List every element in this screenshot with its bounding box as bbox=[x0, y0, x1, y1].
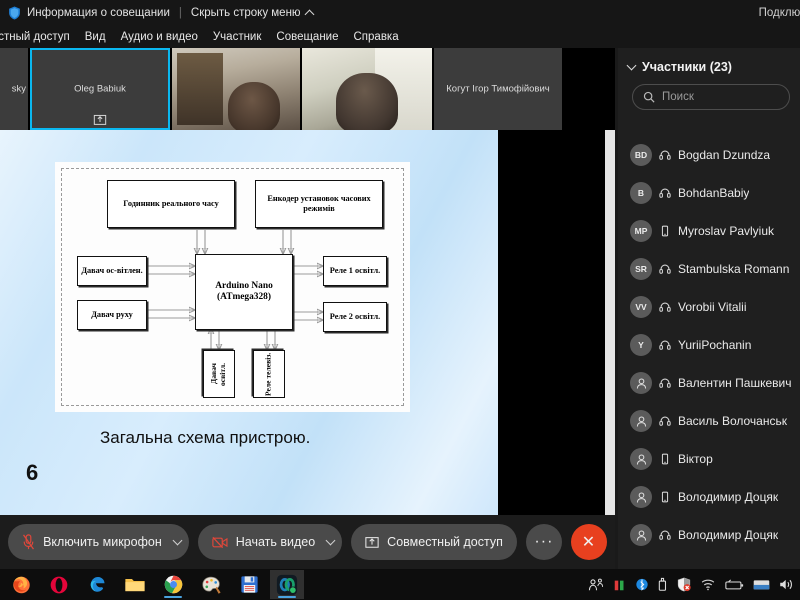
search-placeholder: Поиск bbox=[662, 91, 694, 103]
share-content-button[interactable]: Совместный доступ bbox=[351, 524, 517, 560]
more-options-label: ··· bbox=[534, 533, 553, 551]
people-icon[interactable] bbox=[588, 578, 604, 592]
equalizer-icon[interactable] bbox=[613, 578, 627, 592]
hide-menubar-button[interactable]: Скрыть строку меню bbox=[191, 7, 313, 19]
menu-item-help[interactable]: Справка bbox=[354, 31, 399, 43]
running-indicator bbox=[164, 596, 182, 598]
menu-bar: вместный доступ Вид Аудио и видео Участн… bbox=[0, 26, 800, 48]
menu-item-share[interactable]: вместный доступ bbox=[0, 31, 70, 43]
more-options-button[interactable]: ··· bbox=[526, 524, 562, 560]
avatar bbox=[630, 410, 652, 432]
taskbar-item-opera[interactable] bbox=[42, 570, 76, 599]
stage-scrollbar[interactable] bbox=[605, 130, 615, 515]
taskbar-item-save[interactable] bbox=[232, 570, 266, 599]
list-item[interactable]: MP Myroslav Pavlyiuk bbox=[618, 212, 800, 250]
taskbar-app-icons bbox=[4, 569, 304, 600]
leave-meeting-label: ✕ bbox=[582, 532, 596, 552]
bluetooth-icon[interactable] bbox=[636, 577, 648, 592]
list-item[interactable]: Володимир Доцяк bbox=[618, 516, 800, 554]
opera-icon bbox=[49, 575, 69, 595]
volume-icon[interactable] bbox=[779, 578, 794, 591]
participants-panel: Участники (23) Поиск BD Bogdan Dzundza B bbox=[618, 48, 800, 569]
avatar: VV bbox=[630, 296, 652, 318]
hide-menubar-label: Скрыть строку меню bbox=[191, 7, 301, 19]
share-content-label: Совместный доступ bbox=[387, 535, 503, 549]
chevron-down-icon[interactable] bbox=[627, 60, 637, 70]
usb-icon[interactable] bbox=[657, 577, 668, 592]
participant-name: Bogdan Dzundza bbox=[678, 148, 770, 162]
video-tile-name: Когут Ігор Тимофійович bbox=[434, 84, 562, 95]
participant-name: Stambulska Romann bbox=[678, 262, 789, 276]
phone-icon bbox=[659, 491, 671, 503]
avatar: BD bbox=[630, 144, 652, 166]
video-tile-name: sky bbox=[0, 84, 28, 95]
participant-name: Віктор bbox=[678, 452, 713, 466]
box-real-time-clock: Годинник реального часу bbox=[107, 180, 235, 228]
video-tile-name: Oleg Babiuk bbox=[30, 84, 170, 95]
windows-taskbar bbox=[0, 569, 800, 600]
headset-icon bbox=[659, 301, 671, 313]
webex-icon bbox=[276, 574, 298, 596]
video-tile[interactable] bbox=[302, 48, 432, 130]
headset-icon bbox=[659, 529, 671, 541]
shared-content-stage: Годинник реального часу Енкодер установо… bbox=[0, 130, 615, 515]
chrome-icon bbox=[163, 574, 184, 595]
menu-item-participant[interactable]: Участник bbox=[213, 31, 262, 43]
avatar: B bbox=[630, 182, 652, 204]
list-item[interactable]: Y YuriiPochanin bbox=[618, 326, 800, 364]
video-tile-oleg-babiuk[interactable]: Oleg Babiuk bbox=[30, 48, 170, 130]
keyboard-icon[interactable] bbox=[753, 579, 770, 591]
windows-defender-icon[interactable] bbox=[677, 577, 691, 592]
video-tile[interactable]: sky bbox=[0, 48, 28, 130]
avatar bbox=[630, 372, 652, 394]
infobar-separator: | bbox=[179, 7, 182, 19]
participant-name: Myroslav Pavlyiuk bbox=[678, 224, 774, 238]
taskbar-item-firefox[interactable] bbox=[4, 570, 38, 599]
taskbar-item-file-explorer[interactable] bbox=[118, 570, 152, 599]
taskbar-item-paint[interactable] bbox=[194, 570, 228, 599]
presentation-slide: Годинник реального часу Енкодер установо… bbox=[0, 130, 498, 515]
video-tile[interactable] bbox=[172, 48, 300, 130]
chevron-up-icon bbox=[304, 9, 314, 19]
person-icon bbox=[635, 529, 648, 542]
headset-icon bbox=[659, 415, 671, 427]
unmute-microphone-button[interactable]: Включить микрофон bbox=[8, 524, 189, 560]
video-tile-kogut[interactable]: Когут Ігор Тимофійович bbox=[434, 48, 562, 130]
floppy-save-icon bbox=[240, 575, 259, 594]
list-item[interactable]: Володимир Доцяк bbox=[618, 478, 800, 516]
phone-icon bbox=[659, 453, 671, 465]
avatar bbox=[630, 486, 652, 508]
participant-name: Василь Волочанськ bbox=[678, 414, 787, 428]
box-motion-sensor: Давач руху bbox=[77, 300, 147, 330]
headset-icon bbox=[659, 263, 671, 275]
list-item[interactable]: VV Vorobii Vitalii bbox=[618, 288, 800, 326]
participant-name: Vorobii Vitalii bbox=[678, 300, 746, 314]
box-encoder: Енкодер установок часових режимів bbox=[255, 180, 383, 228]
menu-item-view[interactable]: Вид bbox=[85, 31, 106, 43]
leave-meeting-button[interactable]: ✕ bbox=[571, 524, 607, 560]
list-item[interactable]: Віктор bbox=[618, 440, 800, 478]
share-screen-icon bbox=[365, 535, 379, 549]
share-screen-icon bbox=[94, 113, 107, 126]
start-video-button[interactable]: Начать видео bbox=[198, 524, 342, 560]
taskbar-item-webex[interactable] bbox=[270, 570, 304, 599]
list-item[interactable]: Василь Волочанськ bbox=[618, 402, 800, 440]
participant-name: Володимир Доцяк bbox=[678, 490, 778, 504]
box-relay-2: Реле 2 освітл. bbox=[323, 302, 387, 332]
block-diagram: Годинник реального часу Енкодер установо… bbox=[55, 162, 410, 412]
box-arduino-nano: Arduino Nano (ATmega328) bbox=[195, 254, 293, 330]
box-bottom-tv-relay: Реле телевіз. bbox=[253, 350, 285, 398]
folder-icon bbox=[124, 575, 146, 594]
menu-item-audio-video[interactable]: Аудио и видео bbox=[121, 31, 198, 43]
list-item[interactable]: Валентин Пашкевич bbox=[618, 364, 800, 402]
participant-name: YuriiPochanin bbox=[678, 338, 751, 352]
menu-item-meeting[interactable]: Совещание bbox=[276, 31, 338, 43]
person-icon bbox=[635, 491, 648, 504]
webex-meeting-window: Информация о совещании | Скрыть строку м… bbox=[0, 0, 800, 600]
firefox-icon bbox=[11, 574, 32, 595]
person-icon bbox=[635, 377, 648, 390]
avatar bbox=[630, 448, 652, 470]
taskbar-item-edge[interactable] bbox=[80, 570, 114, 599]
running-indicator bbox=[278, 596, 296, 598]
slide-caption: Загальна схема пристрою. bbox=[100, 428, 430, 448]
list-item[interactable]: BD Bogdan Dzundza bbox=[618, 136, 800, 174]
avatar bbox=[630, 524, 652, 546]
headset-icon bbox=[659, 339, 671, 351]
avatar: Y bbox=[630, 334, 652, 356]
list-item[interactable]: B BohdanBabiy bbox=[618, 174, 800, 212]
video-filmstrip: sky Oleg Babiuk Когут Ігор Тимофійович bbox=[0, 48, 615, 130]
unmute-microphone-label: Включить микрофон bbox=[43, 535, 162, 549]
participants-header[interactable]: Участники (23) bbox=[618, 48, 800, 84]
box-relay-1: Реле 1 освітл. bbox=[323, 256, 387, 286]
connection-status: Подключ bbox=[759, 0, 800, 26]
participant-name: BohdanBabiy bbox=[678, 186, 749, 200]
wifi-icon[interactable] bbox=[700, 578, 716, 591]
headset-icon bbox=[659, 149, 671, 161]
phone-icon bbox=[659, 225, 671, 237]
taskbar-item-chrome[interactable] bbox=[156, 570, 190, 599]
microphone-options-chevron-icon[interactable] bbox=[172, 535, 182, 545]
camera-muted-icon bbox=[212, 536, 228, 549]
microphone-muted-icon bbox=[22, 534, 35, 550]
headset-icon bbox=[659, 377, 671, 389]
shield-icon bbox=[8, 6, 21, 20]
avatar: SR bbox=[630, 258, 652, 280]
meeting-control-bar: Включить микрофон Начать видео Совместны… bbox=[0, 515, 615, 569]
system-tray bbox=[588, 569, 794, 600]
meeting-info-bar: Информация о совещании | Скрыть строку м… bbox=[0, 0, 800, 26]
person-icon bbox=[635, 453, 648, 466]
search-icon bbox=[643, 91, 655, 103]
avatar: MP bbox=[630, 220, 652, 242]
camera-options-chevron-icon[interactable] bbox=[326, 535, 336, 545]
box-light-sensor: Давач ос-вітлен. bbox=[77, 256, 147, 286]
slide-page-number: 6 bbox=[26, 460, 38, 486]
meeting-info-label[interactable]: Информация о совещании bbox=[27, 7, 170, 19]
participants-search-input[interactable]: Поиск bbox=[632, 84, 790, 110]
start-video-label: Начать видео bbox=[236, 535, 315, 549]
paint-palette-icon bbox=[201, 575, 222, 595]
list-item[interactable]: SR Stambulska Romann bbox=[618, 250, 800, 288]
headset-icon bbox=[659, 187, 671, 199]
participants-list[interactable]: BD Bogdan Dzundza B BohdanBabiy MP bbox=[618, 136, 800, 569]
participant-name: Володимир Доцяк bbox=[678, 528, 778, 542]
participant-name: Валентин Пашкевич bbox=[678, 376, 791, 390]
person-icon bbox=[635, 415, 648, 428]
participants-title: Участники (23) bbox=[642, 60, 732, 74]
box-bottom-light-sensor: Давач освітл. bbox=[203, 350, 235, 398]
battery-icon[interactable] bbox=[725, 579, 744, 591]
edge-icon bbox=[87, 574, 108, 595]
